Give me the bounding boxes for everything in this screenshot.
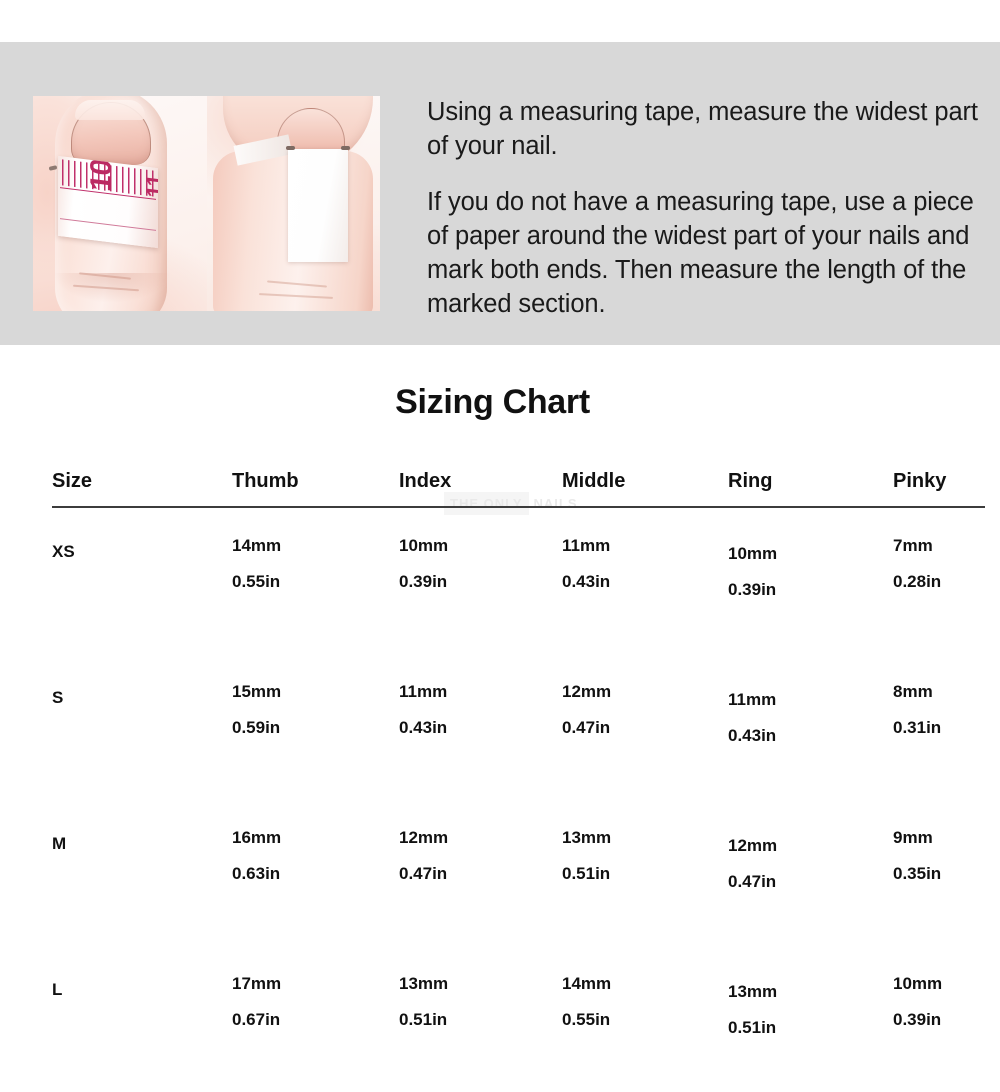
value-mm: 12mm [562, 682, 728, 702]
cell-thumb: 15mm 0.59in [232, 654, 399, 800]
cell-pinky: 8mm 0.31in [893, 654, 985, 800]
value-mm: 14mm [562, 974, 728, 994]
value-in: 0.47in [728, 872, 893, 892]
column-header-ring: Ring [728, 470, 893, 507]
value-mm: 17mm [232, 974, 399, 994]
cell-index: 10mm 0.39in [399, 507, 562, 654]
page-title: Sizing Chart [0, 383, 985, 422]
cell-size: S [52, 654, 232, 800]
value-in: 0.43in [562, 572, 728, 592]
sizing-table-wrapper: Size Thumb Index Middle Ring Pinky XS 14… [52, 470, 985, 1092]
instruction-paragraph-1: Using a measuring tape, measure the wide… [427, 96, 979, 164]
cell-pinky: 7mm 0.28in [893, 507, 985, 654]
value-mm: 8mm [893, 682, 985, 702]
value-in: 0.39in [399, 572, 562, 592]
value-mm: 13mm [399, 974, 562, 994]
value-in: 0.63in [232, 864, 399, 884]
value-in: 0.28in [893, 572, 985, 592]
cell-index: 12mm 0.47in [399, 800, 562, 946]
instruction-band: 10 11 Using a measuring tape, measure th… [0, 42, 1000, 345]
value-mm: 11mm [399, 682, 562, 702]
instruction-paragraph-2: If you do not have a measuring tape, use… [427, 186, 979, 322]
value-in: 0.51in [399, 1010, 562, 1030]
cell-ring: 13mm 0.51in [728, 946, 893, 1092]
value-in: 0.51in [728, 1018, 893, 1038]
value-mm: 16mm [232, 828, 399, 848]
value-in: 0.31in [893, 718, 985, 738]
value-in: 0.55in [232, 572, 399, 592]
cell-size: M [52, 800, 232, 946]
table-row: M 16mm 0.63in 12mm 0.47in 13mm 0.51in 12… [52, 800, 985, 946]
finger-with-paper-strip-photo [207, 96, 380, 311]
value-in: 0.51in [562, 864, 728, 884]
cell-index: 13mm 0.51in [399, 946, 562, 1092]
cell-ring: 11mm 0.43in [728, 654, 893, 800]
paper-strip [288, 149, 348, 262]
value-in: 0.55in [562, 1010, 728, 1030]
cell-pinky: 9mm 0.35in [893, 800, 985, 946]
value-mm: 9mm [893, 828, 985, 848]
value-in: 0.35in [893, 864, 985, 884]
value-in: 0.43in [399, 718, 562, 738]
value-in: 0.47in [399, 864, 562, 884]
value-in: 0.39in [893, 1010, 985, 1030]
cell-size: XS [52, 507, 232, 654]
column-header-size: Size [52, 470, 232, 507]
value-mm: 14mm [232, 536, 399, 556]
cell-ring: 10mm 0.39in [728, 507, 893, 654]
cell-size: L [52, 946, 232, 1092]
measuring-tape: 10 11 [58, 156, 158, 248]
cell-ring: 12mm 0.47in [728, 800, 893, 946]
value-mm: 11mm [562, 536, 728, 556]
cell-middle: 12mm 0.47in [562, 654, 728, 800]
fingernail-tip-highlight [75, 100, 145, 120]
table-row: L 17mm 0.67in 13mm 0.51in 14mm 0.55in 13… [52, 946, 985, 1092]
table-header: Size Thumb Index Middle Ring Pinky [52, 470, 985, 507]
cell-middle: 14mm 0.55in [562, 946, 728, 1092]
column-header-middle: Middle [562, 470, 728, 507]
value-mm: 11mm [728, 690, 893, 710]
cell-middle: 11mm 0.43in [562, 507, 728, 654]
value-mm: 13mm [562, 828, 728, 848]
instruction-text-block: Using a measuring tape, measure the wide… [427, 96, 979, 321]
tape-number-10: 10 [85, 158, 119, 194]
cell-index: 11mm 0.43in [399, 654, 562, 800]
cell-pinky: 10mm 0.39in [893, 946, 985, 1092]
value-mm: 10mm [399, 536, 562, 556]
cell-thumb: 16mm 0.63in [232, 800, 399, 946]
value-in: 0.39in [728, 580, 893, 600]
value-mm: 13mm [728, 982, 893, 1002]
finger-with-measuring-tape-photo: 10 11 [33, 96, 207, 311]
value-in: 0.47in [562, 718, 728, 738]
table-row: S 15mm 0.59in 11mm 0.43in 12mm 0.47in 11… [52, 654, 985, 800]
column-header-thumb: Thumb [232, 470, 399, 507]
value-in: 0.67in [232, 1010, 399, 1030]
instruction-photo-pair: 10 11 [33, 96, 380, 311]
cell-thumb: 17mm 0.67in [232, 946, 399, 1092]
tape-number-11: 11 [142, 173, 158, 199]
value-mm: 7mm [893, 536, 985, 556]
paper-clip-right [341, 146, 350, 150]
tape-secondary-line [60, 218, 156, 231]
table-header-row: Size Thumb Index Middle Ring Pinky [52, 470, 985, 507]
value-mm: 12mm [728, 836, 893, 856]
value-in: 0.43in [728, 726, 893, 746]
paper-clip-left [286, 146, 295, 150]
value-mm: 12mm [399, 828, 562, 848]
cell-thumb: 14mm 0.55in [232, 507, 399, 654]
value-in: 0.59in [232, 718, 399, 738]
value-mm: 15mm [232, 682, 399, 702]
cell-middle: 13mm 0.51in [562, 800, 728, 946]
table-body: XS 14mm 0.55in 10mm 0.39in 11mm 0.43in 1… [52, 507, 985, 1092]
column-header-index: Index [399, 470, 562, 507]
value-mm: 10mm [893, 974, 985, 994]
value-mm: 10mm [728, 544, 893, 564]
table-row: XS 14mm 0.55in 10mm 0.39in 11mm 0.43in 1… [52, 507, 985, 654]
column-header-pinky: Pinky [893, 470, 985, 507]
sizing-table: Size Thumb Index Middle Ring Pinky XS 14… [52, 470, 985, 1092]
